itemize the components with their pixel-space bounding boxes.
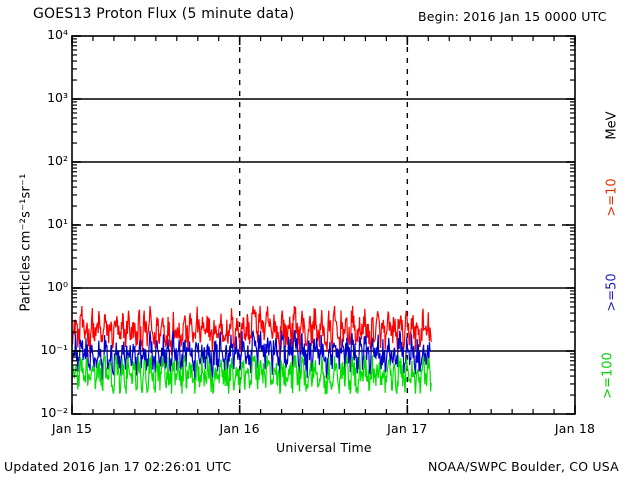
- side-label-ge100: >=100: [601, 336, 616, 416]
- side-label-ge50: >=50: [605, 253, 620, 333]
- plot-canvas: [0, 0, 640, 480]
- side-label-ge10: >=10: [605, 158, 620, 238]
- footer-source-text: NOAA/SWPC Boulder, CO USA: [428, 459, 619, 474]
- side-label-mev: MeV: [605, 86, 620, 166]
- proton-flux-chart: GOES13 Proton Flux (5 minute data) Begin…: [0, 0, 640, 480]
- footer-updated-text: Updated 2016 Jan 17 02:26:01 UTC: [4, 459, 231, 474]
